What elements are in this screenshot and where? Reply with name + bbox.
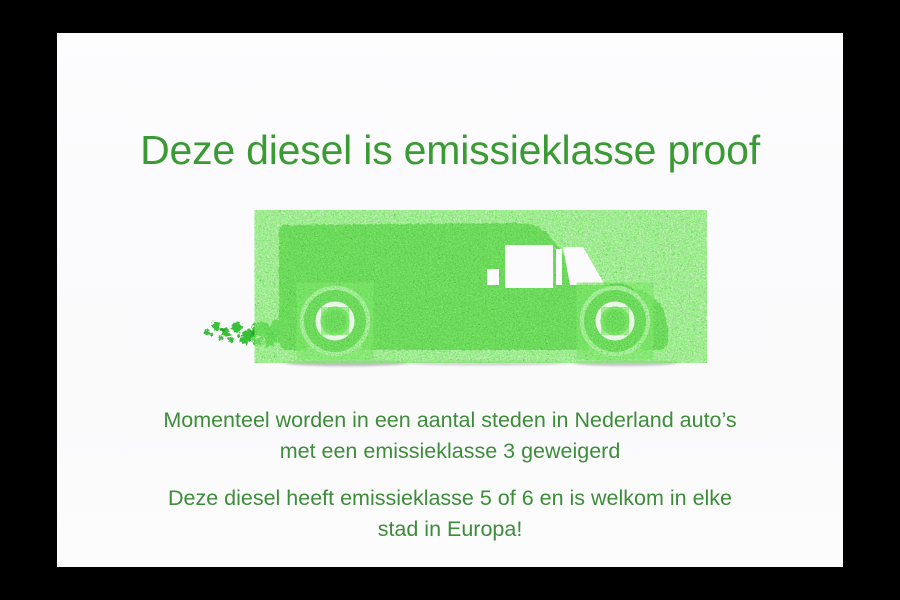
cab-windshield [563, 247, 605, 285]
cab-side-window [505, 245, 553, 288]
paragraph-warning: Momenteel worden in een aantal steden in… [57, 405, 843, 466]
ground-shadow [285, 360, 677, 366]
green-van-illustration [187, 193, 717, 408]
warning-line-2: met een emissieklasse 3 geweigerd [280, 439, 621, 463]
reassurance-line-1: Deze diesel heeft emissieklasse 5 of 6 e… [168, 486, 732, 510]
body-text-block: Momenteel worden in een aantal steden in… [57, 405, 843, 544]
quarter-window [487, 269, 499, 285]
exhaust-puff [204, 319, 288, 346]
front-wheel [582, 288, 648, 354]
rear-wheel [302, 288, 368, 354]
paragraph-reassurance: Deze diesel heeft emissieklasse 5 of 6 e… [57, 483, 843, 544]
content-panel: Deze diesel is emissieklasse proof [57, 33, 843, 567]
image-canvas: Deze diesel is emissieklasse proof [0, 0, 900, 600]
reassurance-line-2: stad in Europa! [378, 517, 523, 541]
page-title: Deze diesel is emissieklasse proof [57, 129, 843, 172]
warning-line-1: Momenteel worden in een aantal steden in… [163, 408, 736, 432]
windshield-pillar-gap [556, 249, 562, 285]
